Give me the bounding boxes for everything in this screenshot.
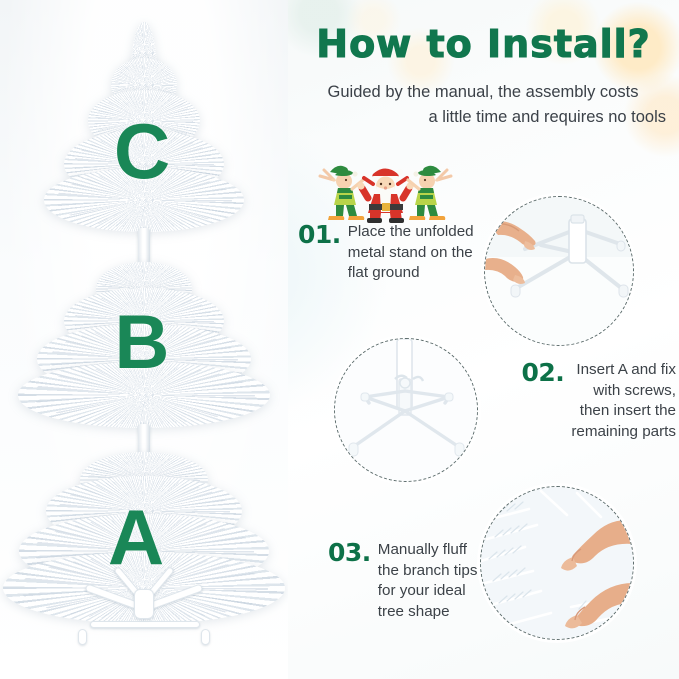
page-title: How to Install? (288, 22, 679, 66)
santa-icon (357, 169, 413, 224)
step-2-photo-inner (335, 339, 477, 481)
step-2-photo (334, 338, 478, 482)
step-1: 01. Place the unfolded metal stand on th… (298, 222, 478, 284)
step-1-line: flat ground (348, 263, 474, 284)
stand-foot (201, 629, 210, 645)
step-3: 03. Manually fluff the branch tips for y… (328, 540, 488, 623)
step-1-photo-inner (485, 197, 633, 345)
step-3-photo-inner (481, 487, 633, 639)
tree-label-a: A (108, 498, 164, 576)
tree-label-b: B (115, 305, 170, 381)
instructions-panel: How to Install? Guided by the manual, th… (288, 0, 679, 679)
step-2: 02. Insert A and fix with screws, then i… (494, 360, 676, 443)
step-3-line: Manually fluff (378, 540, 478, 561)
step-3-line: for your ideal (378, 581, 478, 602)
step-2-line: then insert the (571, 401, 676, 422)
step-1-line: metal stand on the (348, 243, 474, 264)
tree-photo-column: C B A (0, 0, 288, 679)
tree-metal-stand (76, 593, 212, 645)
stand-hub (134, 589, 154, 619)
step-1-line: Place the unfolded (348, 222, 474, 243)
step-2-line: with screws, (571, 381, 676, 402)
page-subtitle: Guided by the manual, the assembly costs… (294, 80, 672, 130)
elf-right-icon (408, 166, 451, 220)
elf-left-icon (320, 166, 364, 220)
step-1-number: 01. (298, 222, 341, 248)
subtitle-line-1: Guided by the manual, the assembly costs (328, 83, 639, 101)
santa-elves-icon (318, 158, 453, 224)
step-3-photo (480, 486, 634, 640)
step-2-number: 02. (522, 360, 565, 386)
santa-elves-illustration (318, 158, 453, 224)
tree-label-c: C (114, 112, 170, 190)
step-1-text: Place the unfolded metal stand on the fl… (348, 222, 474, 284)
fluffing-branches-image (481, 487, 633, 639)
step-2-line: remaining parts (571, 422, 676, 443)
tree-pole-connector (138, 228, 150, 264)
unfolding-stand-image (485, 197, 633, 345)
step-3-text: Manually fluff the branch tips for your … (378, 540, 478, 623)
stand-foot (78, 629, 87, 645)
step-2-text: Insert A and fix with screws, then inser… (571, 360, 676, 443)
step-2-line: Insert A and fix (571, 360, 676, 381)
subtitle-line-2: a little time and requires no tools (294, 105, 672, 130)
step-1-photo (484, 196, 634, 346)
step-3-line: tree shape (378, 602, 478, 623)
assembled-stand-image (335, 339, 477, 481)
infographic-root: C B A How to Install? Guided by the manu… (0, 0, 679, 679)
step-3-number: 03. (328, 540, 371, 566)
step-3-line: the branch tips (378, 561, 478, 582)
stand-crossbar (90, 621, 200, 628)
